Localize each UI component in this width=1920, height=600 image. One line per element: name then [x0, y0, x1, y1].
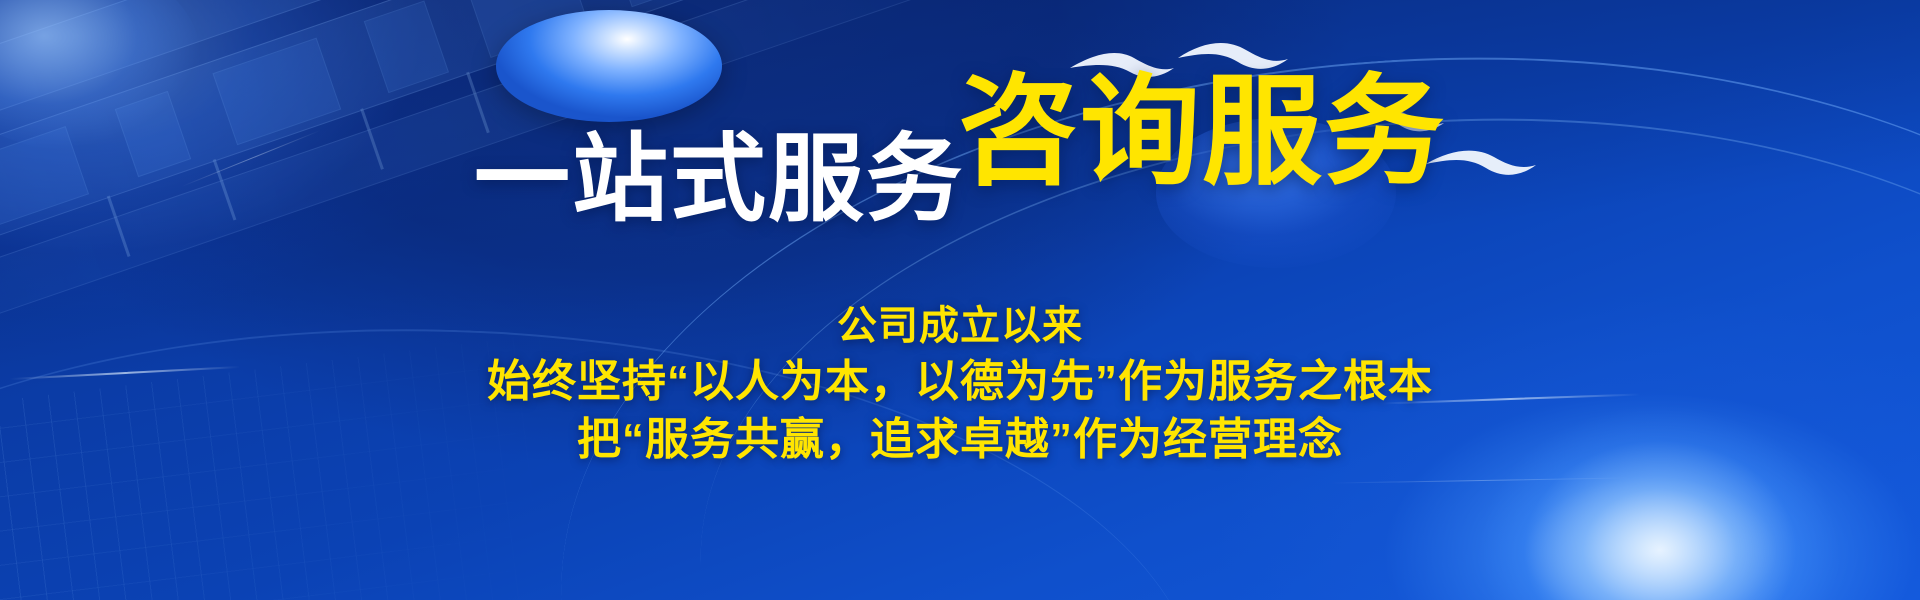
fan-center-glow [1460, 390, 1860, 600]
perspective-grid-decoration [0, 315, 735, 600]
subtitle-line-1: 公司成立以来 [0, 300, 1920, 353]
film-strip-band [0, 0, 975, 274]
light-streak [10, 366, 240, 380]
bird-icon [1178, 43, 1288, 69]
background-arc-line [528, 2, 1920, 600]
light-streak [1380, 393, 1640, 404]
bird-icon [1426, 151, 1536, 175]
film-strip-square [115, 91, 191, 177]
film-strip-square [608, 0, 686, 7]
subtitle-line-3: 把“服务共赢，追求卓越”作为经营理念 [0, 411, 1920, 469]
radial-fan-decoration [1230, 70, 1920, 600]
film-strip-band [0, 0, 1000, 344]
film-strip-tick [608, 23, 632, 84]
film-strip-square [212, 38, 341, 146]
headline: 一站式服务 咨询服务 [0, 72, 1920, 192]
headline-yellow-text: 咨询服务 [958, 72, 1446, 192]
background-arc-line [0, 304, 1212, 600]
film-strip-square [0, 126, 89, 225]
promotional-banner: 一站式服务 咨询服务 公司成立以来 始终坚持“以人为本，以德为先”作为服务之根本… [0, 0, 1920, 600]
film-strip-tick [466, 72, 490, 133]
film-strip-tick [107, 196, 131, 257]
flying-birds-decoration [1060, 14, 1580, 204]
bird-icon [1070, 53, 1174, 77]
film-strip-square [466, 0, 589, 58]
light-streak [181, 130, 320, 187]
subtitle-line-2: 始终坚持“以人为本，以德为先”作为服务之根本 [0, 353, 1920, 411]
film-strip-square [364, 0, 449, 93]
background-sweep-band [0, 0, 1920, 410]
film-strip-decoration [0, 0, 1050, 489]
film-strip-tick [360, 108, 384, 169]
background-arc-line [680, 81, 1920, 600]
glossy-orb-icon [496, 10, 722, 122]
light-streak [1330, 477, 1630, 483]
subtitle-block: 公司成立以来 始终坚持“以人为本，以德为先”作为服务之根本 把“服务共赢，追求卓… [0, 300, 1920, 469]
film-strip-band [0, 0, 937, 162]
corner-glow-orb [0, 0, 200, 150]
film-strip-tick [213, 159, 237, 220]
headline-white-text: 一站式服务 [474, 132, 964, 228]
secondary-orb-icon [1156, 118, 1396, 268]
bird-icon [1350, 110, 1444, 132]
